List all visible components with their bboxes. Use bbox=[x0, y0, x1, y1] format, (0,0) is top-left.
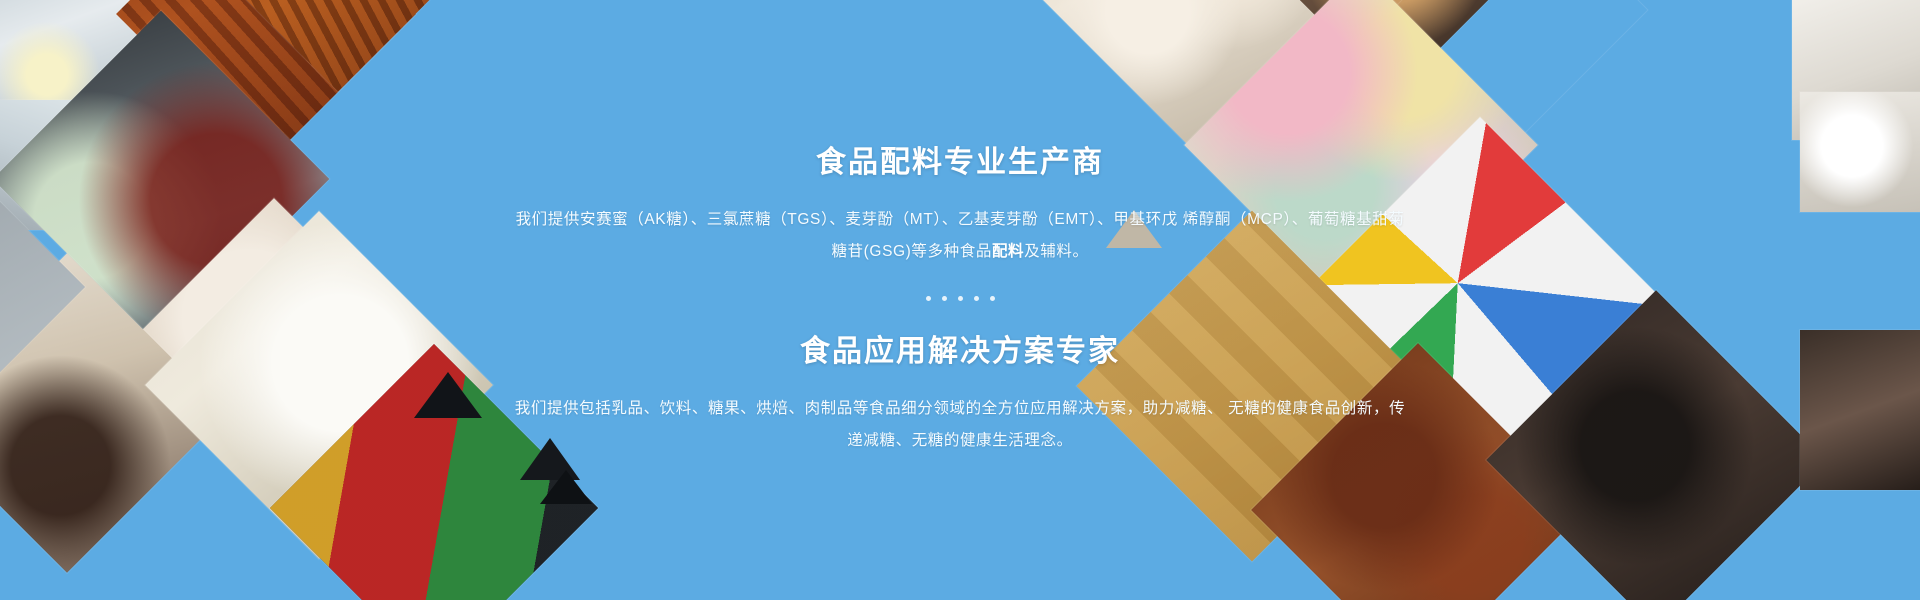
headline-producer: 食品配料专业生产商 bbox=[510, 143, 1410, 182]
separator-dot bbox=[990, 296, 995, 301]
photo-tile-milk-tea bbox=[124, 198, 424, 498]
description-solutions: 我们提供包括乳品、饮料、糖果、烘焙、肉制品等食品细分领域的全方位应用解决方案，助… bbox=[510, 393, 1410, 457]
photo-tile-dried-meat-top bbox=[197, 0, 480, 91]
photo-tile-cocktail-drinks bbox=[0, 11, 329, 348]
separator-dot bbox=[958, 296, 963, 301]
description-producer-line-1: 我们提供安赛蜜（AK糖）、三氯蔗糖（TGS）、麦芽酚（MT）、乙基麦芽酚（EMT… bbox=[516, 211, 1178, 228]
photo-tile-grey-wedge bbox=[0, 181, 85, 393]
decor-triangle-left bbox=[414, 372, 482, 418]
photo-tile-right-edge bbox=[1800, 330, 1920, 490]
photo-tile-milk-jug-2 bbox=[1800, 92, 1920, 212]
description-producer-line-3: 及辅料。 bbox=[1024, 243, 1088, 260]
photo-tile-dried-fruit bbox=[1486, 290, 1825, 600]
photo-tile-bubble-tea bbox=[0, 253, 227, 573]
separator-dot bbox=[942, 296, 947, 301]
section-solutions: 食品应用解决方案专家 我们提供包括乳品、饮料、糖果、烘焙、肉制品等食品细分领域的… bbox=[510, 332, 1410, 457]
description-producer: 我们提供安赛蜜（AK糖）、三氯蔗糖（TGS）、麦芽酚（MT）、乙基麦芽酚（EMT… bbox=[510, 204, 1410, 268]
headline-solutions: 食品应用解决方案专家 bbox=[510, 332, 1410, 371]
banner-content: 食品配料专业生产商 我们提供安赛蜜（AK糖）、三氯蔗糖（TGS）、麦芽酚（MT）… bbox=[510, 0, 1410, 600]
section-producer: 食品配料专业生产商 我们提供安赛蜜（AK糖）、三氯蔗糖（TGS）、麦芽酚（MT）… bbox=[510, 143, 1410, 268]
separator-dot bbox=[926, 296, 931, 301]
photo-tile-lemonade-glass-2 bbox=[0, 100, 110, 230]
photo-tile-dice-sweets bbox=[1393, 0, 1648, 137]
photo-tile-dried-meat bbox=[116, 0, 416, 164]
dot-separator bbox=[926, 294, 995, 302]
promo-banner: 食品配料专业生产商 我们提供安赛蜜（AK糖）、三氯蔗糖（TGS）、麦芽酚（MT）… bbox=[0, 0, 1920, 600]
description-producer-emphasis: 配料 bbox=[992, 243, 1024, 260]
photo-tile-milk-jug bbox=[1792, 0, 1920, 140]
description-solutions-line-1: 我们提供包括乳品、饮料、糖果、烘焙、肉制品等食品细分领域的全方位应用解决方案，助… bbox=[515, 400, 1223, 417]
separator-dot bbox=[974, 296, 979, 301]
photo-tile-lemonade-glass bbox=[0, 0, 140, 138]
photo-tile-powder-ingredients bbox=[145, 211, 493, 559]
